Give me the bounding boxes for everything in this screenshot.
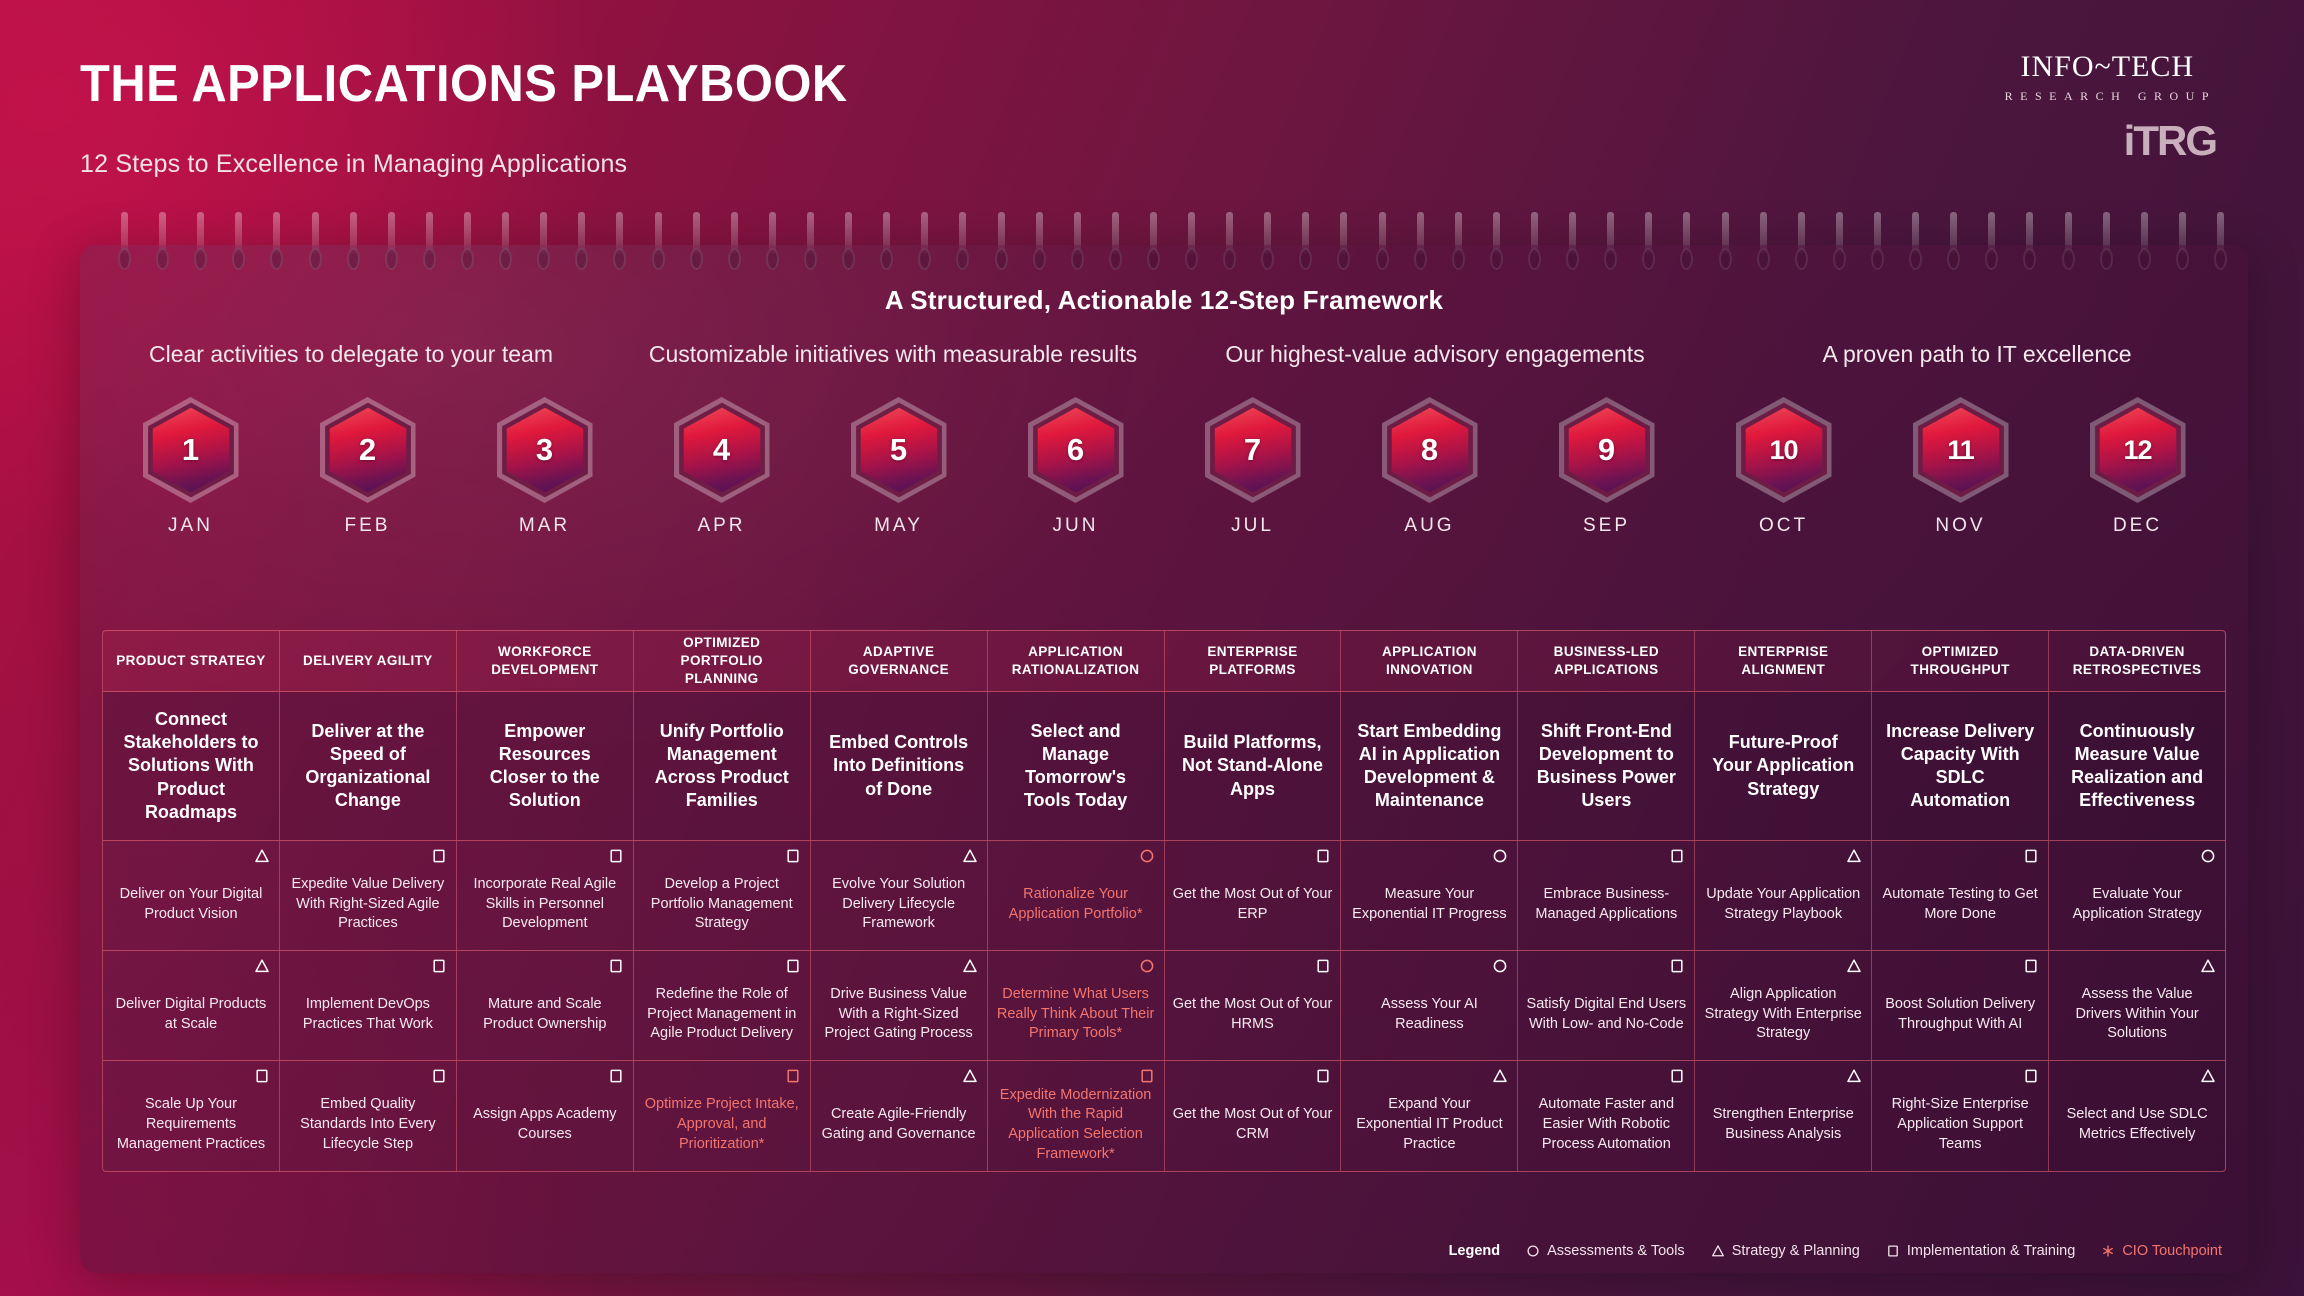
column-title-label: Build Platforms, Not Stand-Alone Apps [1177, 731, 1329, 800]
legend-label: Legend [1449, 1243, 1501, 1259]
initiative-label: Assess the Value Drivers Within Your Sol… [2057, 985, 2217, 1044]
legend-item-label: Strategy & Planning [1732, 1243, 1860, 1259]
circle-icon [1492, 848, 1508, 864]
framework-title: A Structured, Actionable 12-Step Framewo… [80, 285, 2248, 316]
triangle-icon [1846, 958, 1862, 974]
step-hexagon[interactable]: 4 [674, 397, 770, 503]
step-cell-5: 5MAY [810, 397, 987, 537]
initiative-label: Get the Most Out of Your HRMS [1173, 995, 1333, 1034]
square-icon [431, 958, 447, 974]
initiative-cell[interactable]: Expedite Modernization With the Rapid Ap… [988, 1061, 1165, 1171]
initiative-label: Embrace Business-Managed Applications [1526, 885, 1686, 924]
step-number: 10 [1736, 397, 1832, 503]
initiative-cell[interactable]: Develop a Project Portfolio Management S… [634, 841, 811, 950]
column-title-cell: Build Platforms, Not Stand-Alone Apps [1165, 692, 1342, 840]
step-cell-8: 8AUG [1341, 397, 1518, 537]
column-header-cell: DATA-DRIVEN RETROSPECTIVES [2049, 631, 2225, 691]
step-cell-11: 11NOV [1872, 397, 2049, 537]
initiative-cell[interactable]: Scale Up Your Requirements Management Pr… [103, 1061, 280, 1171]
step-number: 7 [1205, 397, 1301, 503]
legend: LegendAssessments & ToolsStrategy & Plan… [1449, 1243, 2222, 1259]
initiative-cell[interactable]: Rationalize Your Application Portfolio* [988, 841, 1165, 950]
triangle-icon [962, 1068, 978, 1084]
circle-icon [1139, 958, 1155, 974]
framework-card: A Structured, Actionable 12-Step Framewo… [80, 245, 2248, 1273]
step-month-label: DEC [2113, 515, 2162, 537]
initiative-label: Deliver Digital Products at Scale [111, 995, 271, 1034]
initiative-label: Expedite Value Delivery With Right-Sized… [288, 875, 448, 934]
section-heading-1: Customizable initiatives with measurable… [622, 341, 1164, 368]
table-row: Deliver Digital Products at ScaleImpleme… [102, 950, 2226, 1060]
square-icon [1886, 1244, 1900, 1258]
step-number: 5 [851, 397, 947, 503]
square-icon [608, 848, 624, 864]
column-title-label: Shift Front-End Development to Business … [1530, 720, 1682, 812]
step-cell-7: 7JUL [1164, 397, 1341, 537]
page-subtitle: 12 Steps to Excellence in Managing Appli… [80, 150, 627, 179]
initiative-label: Deliver on Your Digital Product Vision [111, 885, 271, 924]
initiative-label: Implement DevOps Practices That Work [288, 995, 448, 1034]
circle-icon [2200, 848, 2216, 864]
square-icon [2023, 848, 2039, 864]
section-heading-row: Clear activities to delegate to your tea… [80, 341, 2248, 368]
triangle-icon [254, 958, 270, 974]
initiative-cell[interactable]: Expedite Value Delivery With Right-Sized… [280, 841, 457, 950]
initiative-label: Expand Your Exponential IT Product Pract… [1349, 1095, 1509, 1154]
column-header-cell: ADAPTIVE GOVERNANCE [811, 631, 988, 691]
column-category-label: WORKFORCE DEVELOPMENT [467, 643, 623, 679]
initiative-cell[interactable]: Strengthen Enterprise Business Analysis [1695, 1061, 1872, 1171]
initiative-cell[interactable]: Align Application Strategy With Enterpri… [1695, 951, 1872, 1060]
step-hexagon[interactable]: 7 [1205, 397, 1301, 503]
column-category-label: APPLICATION INNOVATION [1351, 643, 1507, 679]
initiative-label: Scale Up Your Requirements Management Pr… [111, 1095, 271, 1154]
column-header-cell: ENTERPRISE ALIGNMENT [1695, 631, 1872, 691]
initiative-cell[interactable]: Drive Business Value With a Right-Sized … [811, 951, 988, 1060]
initiative-cell[interactable]: Incorporate Real Agile Skills in Personn… [457, 841, 634, 950]
initiative-label: Determine What Users Really Think About … [996, 985, 1156, 1044]
initiative-cell[interactable]: Assess the Value Drivers Within Your Sol… [2049, 951, 2225, 1060]
initiative-cell[interactable]: Evolve Your Solution Delivery Lifecycle … [811, 841, 988, 950]
column-header-cell: PRODUCT STRATEGY [103, 631, 280, 691]
step-month-label: MAY [874, 515, 923, 537]
step-cell-10: 10OCT [1695, 397, 1872, 537]
step-month-label: JAN [168, 515, 213, 537]
initiative-label: Rationalize Your Application Portfolio* [996, 885, 1156, 924]
column-title-cell: Empower Resources Closer to the Solution [457, 692, 634, 840]
brand-logo: INFO~TECH RESEARCH GROUP iTRG [1999, 52, 2216, 162]
column-title-cell: Select and Manage Tomorrow's Tools Today [988, 692, 1165, 840]
square-icon [608, 958, 624, 974]
logo-wordmark: INFO~TECH [1999, 52, 2216, 82]
column-title-label: Select and Manage Tomorrow's Tools Today [1000, 720, 1152, 812]
step-number: 4 [674, 397, 770, 503]
triangle-icon [1711, 1244, 1725, 1258]
initiative-label: Automate Faster and Easier With Robotic … [1526, 1095, 1686, 1154]
column-category-label: OPTIMIZED PORTFOLIO PLANNING [644, 634, 800, 689]
step-month-label: NOV [1935, 515, 1985, 537]
column-title-label: Deliver at the Speed of Organizational C… [292, 720, 444, 812]
legend-item: Strategy & Planning [1711, 1243, 1860, 1259]
initiative-label: Evolve Your Solution Delivery Lifecycle … [819, 875, 979, 934]
legend-item-label: Implementation & Training [1907, 1243, 2075, 1259]
square-icon [1315, 1068, 1331, 1084]
step-cell-12: 12DEC [2049, 397, 2226, 537]
square-icon [1139, 1068, 1155, 1084]
triangle-icon [2200, 958, 2216, 974]
square-icon [1669, 1068, 1685, 1084]
star-icon [2101, 1244, 2115, 1258]
initiative-label: Update Your Application Strategy Playboo… [1703, 885, 1863, 924]
initiative-label: Expedite Modernization With the Rapid Ap… [996, 1086, 1156, 1165]
step-month-label: AUG [1404, 515, 1454, 537]
column-header-cell: BUSINESS-LED APPLICATIONS [1518, 631, 1695, 691]
column-title-cell: Deliver at the Speed of Organizational C… [280, 692, 457, 840]
column-category-label: ENTERPRISE ALIGNMENT [1705, 643, 1861, 679]
column-header-cell: OPTIMIZED PORTFOLIO PLANNING [634, 631, 811, 691]
square-icon [785, 848, 801, 864]
initiative-cell[interactable]: Boost Solution Delivery Throughput With … [1872, 951, 2049, 1060]
column-header-cell: APPLICATION RATIONALIZATION [988, 631, 1165, 691]
initiative-label: Select and Use SDLC Metrics Effectively [2057, 1105, 2217, 1144]
step-number: 9 [1559, 397, 1655, 503]
initiative-cell[interactable]: Automate Testing to Get More Done [1872, 841, 2049, 950]
column-title-label: Embed Controls Into Definitions of Done [823, 731, 975, 800]
initiative-cell[interactable]: Automate Faster and Easier With Robotic … [1518, 1061, 1695, 1171]
column-title-label: Empower Resources Closer to the Solution [469, 720, 621, 812]
triangle-icon [1846, 1068, 1862, 1084]
step-cell-1: 1JAN [102, 397, 279, 537]
step-hexagon[interactable]: 6 [1028, 397, 1124, 503]
initiative-cell[interactable]: Embed Quality Standards Into Every Lifec… [280, 1061, 457, 1171]
initiative-label: Automate Testing to Get More Done [1880, 885, 2040, 924]
triangle-icon [1846, 848, 1862, 864]
initiative-label: Create Agile-Friendly Gating and Governa… [819, 1105, 979, 1144]
step-hexagon-row: 1JAN2FEB3MAR4APR5MAY6JUN7JUL8AUG9SEP10OC… [102, 397, 2226, 537]
step-cell-4: 4APR [633, 397, 810, 537]
square-icon [431, 1068, 447, 1084]
square-icon [1315, 848, 1331, 864]
section-heading-0: Clear activities to delegate to your tea… [80, 341, 622, 368]
column-category-label: PRODUCT STRATEGY [116, 652, 265, 670]
initiative-cell[interactable]: Deliver on Your Digital Product Vision [103, 841, 280, 950]
initiative-cell[interactable]: Expand Your Exponential IT Product Pract… [1341, 1061, 1518, 1171]
step-hexagon[interactable]: 11 [1913, 397, 2009, 503]
table-row: Deliver on Your Digital Product VisionEx… [102, 840, 2226, 950]
legend-item: Implementation & Training [1886, 1243, 2075, 1259]
column-title-label: Future-Proof Your Application Strategy [1707, 731, 1859, 800]
step-cell-9: 9SEP [1518, 397, 1695, 537]
column-header-cell: DELIVERY AGILITY [280, 631, 457, 691]
table-row: Scale Up Your Requirements Management Pr… [102, 1060, 2226, 1172]
step-number: 8 [1382, 397, 1478, 503]
step-cell-3: 3MAR [456, 397, 633, 537]
step-number: 11 [1913, 397, 2009, 503]
logo-tagline: RESEARCH GROUP [1999, 89, 2216, 104]
step-number: 12 [2090, 397, 2186, 503]
step-cell-6: 6JUN [987, 397, 1164, 537]
page-title: THE APPLICATIONS PLAYBOOK [80, 58, 848, 110]
legend-item-label: Assessments & Tools [1547, 1243, 1685, 1259]
initiative-cell[interactable]: Determine What Users Really Think About … [988, 951, 1165, 1060]
table-title-row: Connect Stakeholders to Solutions With P… [102, 692, 2226, 840]
square-icon [785, 1068, 801, 1084]
triangle-icon [2200, 1068, 2216, 1084]
step-hexagon[interactable]: 12 [2090, 397, 2186, 503]
initiative-label: Redefine the Role of Project Management … [642, 985, 802, 1044]
column-header-cell: OPTIMIZED THROUGHPUT [1872, 631, 2049, 691]
column-category-label: BUSINESS-LED APPLICATIONS [1528, 643, 1684, 679]
step-cell-2: 2FEB [279, 397, 456, 537]
initiative-label: Optimize Project Intake, Approval, and P… [642, 1095, 802, 1154]
circle-icon [1139, 848, 1155, 864]
initiative-label: Measure Your Exponential IT Progress [1349, 885, 1509, 924]
initiative-label: Embed Quality Standards Into Every Lifec… [288, 1095, 448, 1154]
framework-table: PRODUCT STRATEGYDELIVERY AGILITYWORKFORC… [102, 630, 2226, 1172]
initiative-label: Drive Business Value With a Right-Sized … [819, 985, 979, 1044]
step-month-label: JUL [1231, 515, 1274, 537]
column-title-label: Increase Delivery Capacity With SDLC Aut… [1884, 720, 2036, 812]
legend-item: CIO Touchpoint [2101, 1243, 2222, 1259]
square-icon [1669, 958, 1685, 974]
column-category-label: OPTIMIZED THROUGHPUT [1882, 643, 2038, 679]
column-title-cell: Unify Portfolio Management Across Produc… [634, 692, 811, 840]
column-title-cell: Increase Delivery Capacity With SDLC Aut… [1872, 692, 2049, 840]
initiative-label: Assign Apps Academy Courses [465, 1105, 625, 1144]
initiative-cell[interactable]: Update Your Application Strategy Playboo… [1695, 841, 1872, 950]
step-hexagon[interactable]: 2 [320, 397, 416, 503]
column-header-cell: ENTERPRISE PLATFORMS [1165, 631, 1342, 691]
section-heading-2: Our highest-value advisory engagements [1164, 341, 1706, 368]
step-hexagon[interactable]: 1 [143, 397, 239, 503]
step-month-label: FEB [345, 515, 391, 537]
square-icon [2023, 958, 2039, 974]
infographic-page: THE APPLICATIONS PLAYBOOK 12 Steps to Ex… [0, 0, 2304, 1296]
square-icon [1669, 848, 1685, 864]
column-title-cell: Shift Front-End Development to Business … [1518, 692, 1695, 840]
initiative-cell[interactable]: Select and Use SDLC Metrics Effectively [2049, 1061, 2225, 1171]
initiative-cell[interactable]: Get the Most Out of Your ERP [1165, 841, 1342, 950]
triangle-icon [1492, 1068, 1508, 1084]
initiative-cell[interactable]: Right-Size Enterprise Application Suppor… [1872, 1061, 2049, 1171]
step-month-label: OCT [1759, 515, 1808, 537]
step-hexagon[interactable]: 5 [851, 397, 947, 503]
initiative-label: Boost Solution Delivery Throughput With … [1880, 995, 2040, 1034]
column-header-cell: WORKFORCE DEVELOPMENT [457, 631, 634, 691]
column-title-cell: Start Embedding AI in Application Develo… [1341, 692, 1518, 840]
step-number: 6 [1028, 397, 1124, 503]
step-number: 2 [320, 397, 416, 503]
initiative-label: Right-Size Enterprise Application Suppor… [1880, 1095, 2040, 1154]
column-category-label: ADAPTIVE GOVERNANCE [821, 643, 977, 679]
square-icon [1315, 958, 1331, 974]
square-icon [608, 1068, 624, 1084]
legend-item: Assessments & Tools [1526, 1243, 1685, 1259]
initiative-label: Mature and Scale Product Ownership [465, 995, 625, 1034]
column-category-label: ENTERPRISE PLATFORMS [1175, 643, 1331, 679]
step-month-label: MAR [519, 515, 570, 537]
initiative-label: Align Application Strategy With Enterpri… [1703, 985, 1863, 1044]
initiative-cell[interactable]: Embrace Business-Managed Applications [1518, 841, 1695, 950]
initiative-label: Strengthen Enterprise Business Analysis [1703, 1105, 1863, 1144]
column-category-label: DELIVERY AGILITY [303, 652, 433, 670]
column-title-cell: Future-Proof Your Application Strategy [1695, 692, 1872, 840]
circle-icon [1492, 958, 1508, 974]
column-title-cell: Continuously Measure Value Realization a… [2049, 692, 2225, 840]
square-icon [431, 848, 447, 864]
step-month-label: JUN [1053, 515, 1099, 537]
initiative-label: Evaluate Your Application Strategy [2057, 885, 2217, 924]
initiative-label: Develop a Project Portfolio Management S… [642, 875, 802, 934]
initiative-cell[interactable]: Deliver Digital Products at Scale [103, 951, 280, 1060]
step-hexagon[interactable]: 10 [1736, 397, 1832, 503]
step-number: 3 [497, 397, 593, 503]
logo-itrg-mark: iTRG [1999, 120, 2216, 162]
triangle-icon [962, 958, 978, 974]
initiative-cell[interactable]: Get the Most Out of Your CRM [1165, 1061, 1342, 1171]
initiative-label: Get the Most Out of Your ERP [1173, 885, 1333, 924]
circle-icon [1526, 1244, 1540, 1258]
initiative-label: Assess Your AI Readiness [1349, 995, 1509, 1034]
initiative-cell[interactable]: Redefine the Role of Project Management … [634, 951, 811, 1060]
initiative-cell[interactable]: Assign Apps Academy Courses [457, 1061, 634, 1171]
initiative-label: Incorporate Real Agile Skills in Personn… [465, 875, 625, 934]
initiative-cell[interactable]: Implement DevOps Practices That Work [280, 951, 457, 1060]
column-title-cell: Embed Controls Into Definitions of Done [811, 692, 988, 840]
column-category-label: DATA-DRIVEN RETROSPECTIVES [2059, 643, 2215, 679]
initiative-label: Satisfy Digital End Users With Low- and … [1526, 995, 1686, 1034]
initiative-cell[interactable]: Mature and Scale Product Ownership [457, 951, 634, 1060]
step-hexagon[interactable]: 3 [497, 397, 593, 503]
square-icon [2023, 1068, 2039, 1084]
triangle-icon [254, 848, 270, 864]
initiative-label: Get the Most Out of Your CRM [1173, 1105, 1333, 1144]
column-title-label: Start Embedding AI in Application Develo… [1353, 720, 1505, 812]
step-number: 1 [143, 397, 239, 503]
step-month-label: SEP [1583, 515, 1630, 537]
initiative-cell[interactable]: Evaluate Your Application Strategy [2049, 841, 2225, 950]
column-title-label: Connect Stakeholders to Solutions With P… [115, 708, 267, 823]
column-title-label: Continuously Measure Value Realization a… [2061, 720, 2213, 812]
initiative-cell[interactable]: Satisfy Digital End Users With Low- and … [1518, 951, 1695, 1060]
square-icon [254, 1068, 270, 1084]
column-category-label: APPLICATION RATIONALIZATION [998, 643, 1154, 679]
step-month-label: APR [697, 515, 745, 537]
initiative-cell[interactable]: Create Agile-Friendly Gating and Governa… [811, 1061, 988, 1171]
table-header-row: PRODUCT STRATEGYDELIVERY AGILITYWORKFORC… [102, 630, 2226, 692]
section-heading-3: A proven path to IT excellence [1706, 341, 2248, 368]
column-header-cell: APPLICATION INNOVATION [1341, 631, 1518, 691]
initiative-cell[interactable]: Optimize Project Intake, Approval, and P… [634, 1061, 811, 1171]
initiative-cell[interactable]: Measure Your Exponential IT Progress [1341, 841, 1518, 950]
legend-item-label: CIO Touchpoint [2122, 1243, 2222, 1259]
column-title-cell: Connect Stakeholders to Solutions With P… [103, 692, 280, 840]
triangle-icon [962, 848, 978, 864]
step-hexagon[interactable]: 8 [1382, 397, 1478, 503]
square-icon [785, 958, 801, 974]
initiative-cell[interactable]: Get the Most Out of Your HRMS [1165, 951, 1342, 1060]
step-hexagon[interactable]: 9 [1559, 397, 1655, 503]
initiative-cell[interactable]: Assess Your AI Readiness [1341, 951, 1518, 1060]
column-title-label: Unify Portfolio Management Across Produc… [646, 720, 798, 812]
